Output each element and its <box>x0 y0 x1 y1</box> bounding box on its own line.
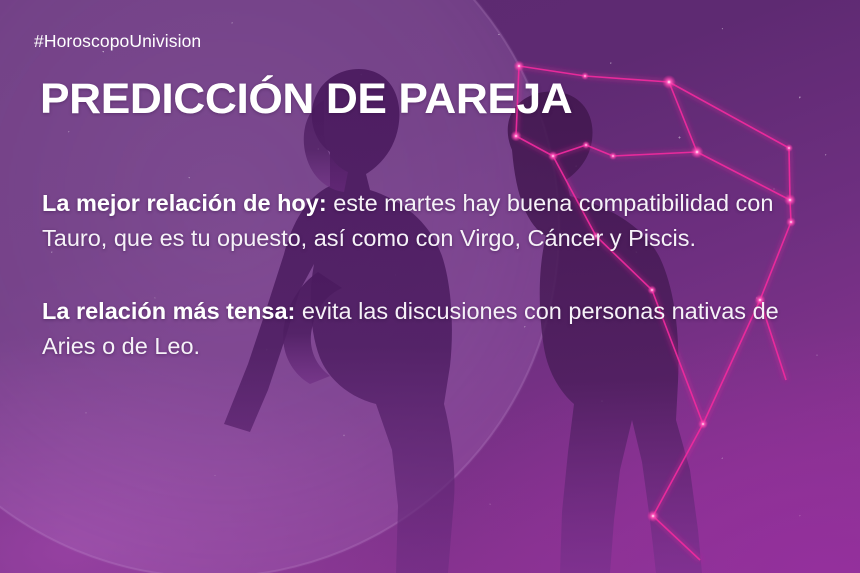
hashtag-label: #HoroscopoUnivision <box>34 31 201 52</box>
tense-relationship-lead: La relación más tensa: <box>42 298 295 324</box>
horoscope-card: #HoroscopoUnivision PREDICCIÓN DE PAREJA… <box>0 0 860 573</box>
paragraph-best-relationship: La mejor relación de hoy: este martes ha… <box>42 186 802 256</box>
best-relationship-lead: La mejor relación de hoy: <box>42 190 327 216</box>
text-content: #HoroscopoUnivision PREDICCIÓN DE PAREJA… <box>0 0 860 573</box>
prediction-body: La mejor relación de hoy: este martes ha… <box>42 186 802 364</box>
page-title: PREDICCIÓN DE PAREJA <box>40 78 572 121</box>
paragraph-tense-relationship: La relación más tensa: evita las discusi… <box>42 294 802 364</box>
